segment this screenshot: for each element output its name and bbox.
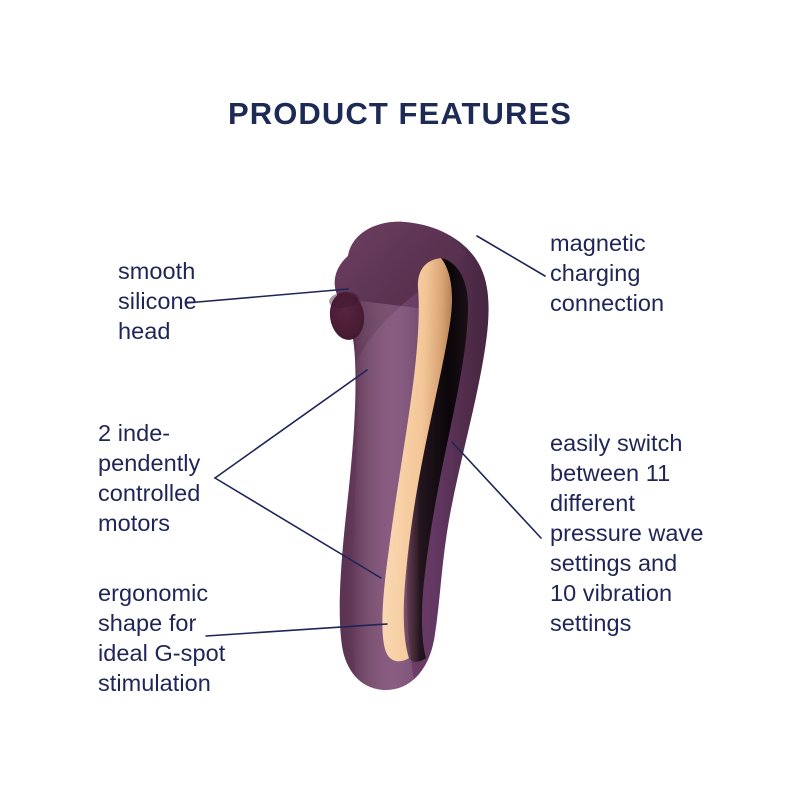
leader-line-magnetic [477, 236, 545, 276]
callout-independently-controlled-motors: 2 inde- pendently controlled motors [98, 418, 298, 538]
callout-smooth-silicone-head: smooth silicone head [118, 256, 298, 346]
callout-magnetic-charging-connection: magnetic charging connection [550, 228, 760, 318]
callout-pressure-wave-and-vibration-settings: easily switch between 11 different press… [550, 428, 765, 638]
callout-ergonomic-shape: ergonomic shape for ideal G-spot stimula… [98, 578, 313, 698]
product-features-infographic: PRODUCT FEATURES [0, 0, 800, 800]
leader-line-settings [452, 442, 541, 538]
